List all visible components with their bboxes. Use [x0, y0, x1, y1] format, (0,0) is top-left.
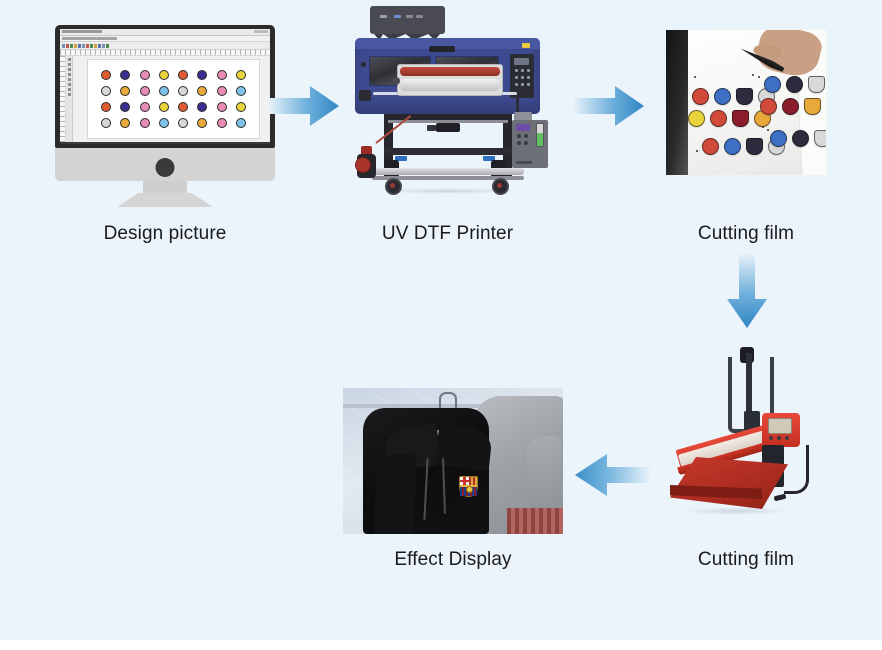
- monitor-stand: [117, 193, 213, 207]
- design-canvas: [73, 56, 270, 142]
- tool-icon: [68, 93, 71, 96]
- printer-lid-handle: [429, 46, 455, 52]
- printed-badge: [702, 138, 719, 155]
- design-sticker: [197, 118, 207, 128]
- registration-dot: [762, 126, 764, 128]
- crest-cross-quarter: [460, 477, 469, 485]
- heat-press-control-box: [762, 413, 800, 447]
- hoodie-drawstring-left: [423, 458, 428, 520]
- label-effect-display: Effect Display: [343, 549, 563, 571]
- design-sticker: [197, 102, 207, 112]
- printer-ground-shadow: [380, 188, 516, 194]
- laminator-display: [516, 124, 530, 131]
- arrow-down: [723, 253, 771, 329]
- tool-palette: [66, 56, 73, 142]
- printer-left-knob: [359, 90, 371, 101]
- design-sticker: [236, 118, 246, 128]
- design-sticker: [159, 102, 169, 112]
- printer-roller-assembly: [397, 64, 503, 96]
- printer-grey-roller: [400, 79, 500, 91]
- power-plug: [774, 494, 787, 502]
- design-sticker: [120, 86, 130, 96]
- printed-badge: [814, 130, 826, 147]
- tool-icon: [68, 78, 71, 81]
- app-menubar: [60, 36, 270, 42]
- toolbar-icon: [74, 44, 77, 48]
- registration-dot: [758, 76, 760, 78]
- label-cutting-film-top: Cutting film: [666, 223, 826, 245]
- printed-badge: [786, 76, 803, 93]
- design-sticker: [197, 86, 207, 96]
- design-sticker: [217, 102, 227, 112]
- sticker-grid: [97, 67, 250, 131]
- design-sticker: [140, 118, 150, 128]
- monitor-neck: [143, 181, 187, 195]
- printed-badge: [688, 110, 705, 127]
- app-titlebar: [60, 29, 270, 36]
- ink-bottle-disc: [355, 157, 371, 173]
- toolbar-icon: [98, 44, 101, 48]
- printer-roller-knob: [392, 77, 400, 85]
- design-sticker: [159, 70, 169, 80]
- printed-badge: [736, 88, 753, 105]
- statusbar-tag: [82, 144, 118, 145]
- badge-row: [770, 130, 826, 147]
- cutting-film-photo: [666, 30, 826, 175]
- toolbar-icon: [62, 44, 65, 48]
- printer-base-bar: [372, 168, 524, 175]
- toolbar-icon: [102, 44, 105, 48]
- printed-badge: [808, 76, 825, 93]
- design-sticker: [197, 70, 207, 80]
- page-sheet: [87, 59, 260, 139]
- design-sticker: [159, 86, 169, 96]
- badge-row: [764, 76, 826, 93]
- bottom-white-strip: [0, 640, 882, 650]
- design-sticker: [178, 86, 188, 96]
- design-sticker: [236, 86, 246, 96]
- effect-display-photo: [343, 388, 563, 534]
- laminator-level-gauge: [536, 123, 544, 147]
- photo-dark-edge: [666, 30, 688, 175]
- laminator-buttons: [517, 134, 521, 138]
- design-sticker: [101, 86, 111, 96]
- design-sticker: [140, 70, 150, 80]
- toolbar-icon: [78, 44, 81, 48]
- monitor-power-button: [156, 158, 175, 177]
- label-cutting-film-bottom: Cutting film: [666, 549, 826, 571]
- printed-badge: [714, 88, 731, 105]
- label-uv-dtf-printer: UV DTF Printer: [340, 223, 555, 245]
- arrow-left: [573, 450, 651, 500]
- printer-left-port: [361, 62, 366, 67]
- label-design-picture: Design picture: [55, 223, 275, 245]
- design-sticker: [217, 86, 227, 96]
- app-workspace: [60, 56, 270, 142]
- toolbar-icon: [66, 44, 69, 48]
- design-sticker: [178, 118, 188, 128]
- printer-top-unit: [370, 6, 445, 34]
- registration-dot: [696, 150, 698, 152]
- printed-badge: [710, 110, 727, 127]
- power-cord: [784, 445, 809, 494]
- design-sticker: [217, 70, 227, 80]
- design-sticker: [140, 86, 150, 96]
- crest-stripes-quarter: [469, 477, 478, 485]
- tool-icon: [68, 83, 71, 86]
- badge-row: [760, 98, 826, 115]
- arrow-right-1: [268, 82, 340, 130]
- club-crest-logo: [459, 476, 478, 497]
- design-sticker: [120, 118, 130, 128]
- printed-badge: [782, 98, 799, 115]
- design-sticker: [101, 70, 111, 80]
- design-sticker: [101, 118, 111, 128]
- printed-badge: [770, 130, 787, 147]
- app-statusbar: [60, 142, 270, 144]
- tool-icon: [68, 73, 71, 76]
- tool-icon: [68, 63, 71, 66]
- tool-icon: [68, 58, 71, 61]
- printer-status-lamp: [522, 43, 530, 48]
- design-sticker: [120, 102, 130, 112]
- laminator-label: [516, 161, 532, 164]
- heat-press-display: [768, 418, 792, 434]
- toolbar-icon: [82, 44, 85, 48]
- black-hoodie: [363, 408, 489, 534]
- tool-icon: [68, 88, 71, 91]
- printed-badge: [792, 130, 809, 147]
- design-sticker: [236, 70, 246, 80]
- heat-press-ground-shadow: [680, 507, 790, 515]
- design-sticker: [236, 102, 246, 112]
- printed-badge: [804, 98, 821, 115]
- hoodie-drawstring-right: [442, 458, 446, 514]
- printed-badge: [732, 110, 749, 127]
- design-picture-illustration: [55, 25, 275, 205]
- design-sticker: [178, 70, 188, 80]
- design-sticker: [101, 102, 111, 112]
- toolbar-icon: [90, 44, 93, 48]
- heat-press-buttons: [769, 436, 773, 440]
- toolbar-icon: [106, 44, 109, 48]
- printed-badge: [760, 98, 777, 115]
- printer-stand-crossbar: [384, 148, 512, 155]
- registration-dot: [694, 76, 696, 78]
- design-sticker: [217, 118, 227, 128]
- printer-carriage: [436, 123, 460, 132]
- hoodie-shoulder-left: [373, 453, 416, 534]
- printer-red-roller: [400, 67, 500, 76]
- statusbar-icon: [62, 144, 66, 145]
- tool-icon: [68, 68, 71, 71]
- plaid-fabric: [507, 508, 563, 534]
- monitor-bezel: [55, 25, 275, 148]
- registration-dot: [767, 129, 769, 131]
- design-sticker: [140, 102, 150, 112]
- printed-badge: [692, 88, 709, 105]
- printed-badge: [724, 138, 741, 155]
- design-sticker: [120, 70, 130, 80]
- ink-bottle: [354, 144, 378, 178]
- toolbar-icon: [86, 44, 89, 48]
- workflow-diagram: Design picture: [0, 0, 882, 640]
- arrow-right-2: [573, 82, 645, 130]
- printed-badge: [746, 138, 763, 155]
- toolbar-icon: [94, 44, 97, 48]
- heat-press-illustration: [666, 345, 826, 520]
- design-sticker: [178, 102, 188, 112]
- toolbar-icon: [70, 44, 73, 48]
- design-sticker: [159, 118, 169, 128]
- laminator-unit: [512, 120, 548, 168]
- monitor-screen: [60, 29, 270, 144]
- badge-row: [688, 110, 771, 127]
- registration-dot: [752, 74, 754, 76]
- printed-badge: [764, 76, 781, 93]
- uv-dtf-printer-illustration: [340, 2, 555, 202]
- app-toolbar: [60, 42, 270, 50]
